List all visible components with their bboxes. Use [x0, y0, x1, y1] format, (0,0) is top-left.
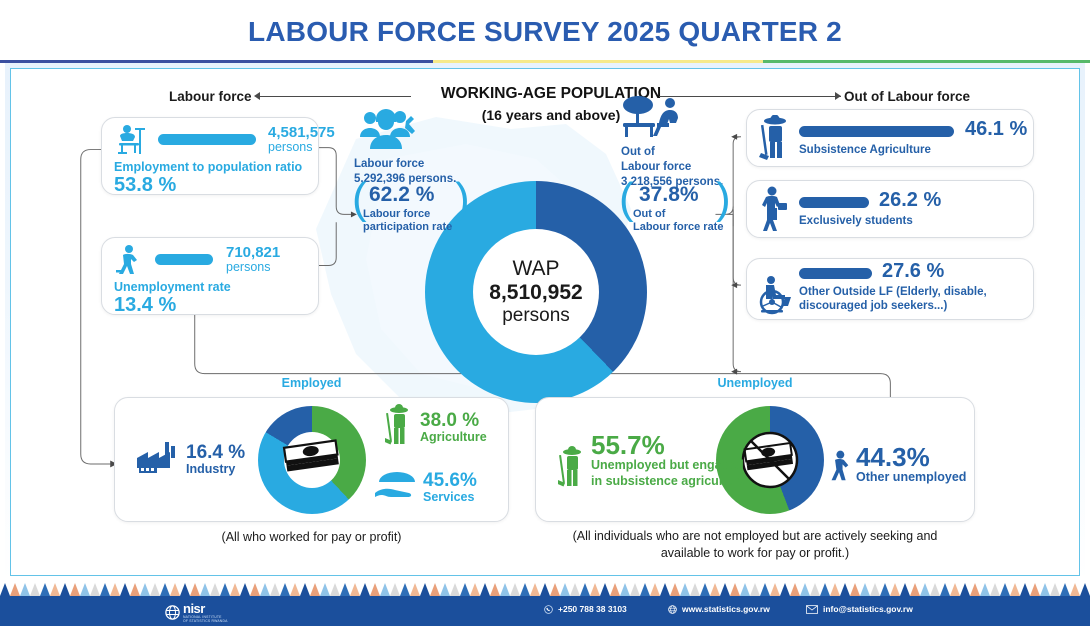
flow-label-labour-force: Labour force: [169, 89, 252, 104]
out-lf-rate-sub-1: Out of: [633, 208, 665, 222]
unemployed-subsistence-percent: 55.7%: [591, 430, 665, 461]
services-percent: 45.6%: [423, 470, 477, 492]
farmer-green-icon: [558, 446, 588, 490]
card-other-outside-lf[interactable]: 27.6 % Other Outside LF (Elderly, disabl…: [746, 258, 1034, 320]
bar-unemployment-rate: [155, 254, 213, 265]
other-outside-lf-label: Other Outside LF (Elderly, disable,: [799, 285, 987, 299]
employment-percent: 53.8 %: [114, 174, 176, 197]
bar-employment-ratio: [158, 134, 256, 145]
job-seeker-blue-icon: [828, 448, 858, 486]
factory-icon: [137, 442, 181, 476]
labour-force-title-1: Labour force: [354, 157, 472, 172]
footer-phone[interactable]: +250 788 38 3103: [544, 604, 627, 614]
desk-worker-icon: [114, 124, 152, 158]
bar-exclusively-students: [799, 197, 869, 208]
card-exclusively-students[interactable]: 26.2 % Exclusively students: [746, 180, 1034, 238]
wap-number: 8,510,952: [489, 281, 582, 305]
other-outside-lf-percent: 27.6 %: [882, 260, 944, 283]
employed-caption: (All who worked for pay or profit): [114, 529, 509, 546]
unemployment-value: 710,821: [226, 244, 280, 261]
out-lf-rate-percent: 37.8%: [639, 183, 699, 207]
services-label: Services: [423, 490, 474, 504]
card-employed[interactable]: 16.4 % Industry 38.0 % Agriculture: [114, 397, 509, 522]
agriculture-label: Agriculture: [420, 430, 487, 444]
other-unemployed-label: Other unemployed: [856, 470, 966, 484]
card-unemployed[interactable]: 55.7% Unemployed but engaged in subsiste…: [535, 397, 975, 522]
wheelchair-icon: [755, 275, 799, 315]
left-paren-close-icon: ): [455, 177, 470, 221]
unemployment-unit: persons: [226, 260, 270, 274]
subsistence-agriculture-percent: 46.1 %: [965, 118, 1027, 141]
services-hand-icon: [373, 466, 421, 504]
industry-label: Industry: [186, 462, 235, 476]
footer-email[interactable]: info@statistics.gov.rw: [806, 604, 913, 614]
person-on-bench-icon: [621, 95, 683, 141]
agriculture-percent: 38.0 %: [420, 410, 479, 432]
out-of-labour-force-stat: Out of Labour force 3,218,556 persons.: [621, 95, 751, 190]
flow-line-left: [259, 96, 411, 97]
unemployed-caption-line-1: (All individuals who are not employed bu…: [535, 528, 975, 545]
out-lf-rate-sub-2: Labour force rate: [633, 221, 723, 235]
unemployment-label: Unemployment rate: [114, 280, 231, 294]
footer-website-text: www.statistics.gov.rw: [682, 604, 770, 614]
student-icon: [759, 186, 791, 232]
unemployed-caption: (All individuals who are not employed bu…: [535, 528, 975, 562]
farmer-green-icon: [385, 404, 415, 448]
job-seeker-icon: [116, 244, 150, 278]
exclusively-students-percent: 26.2 %: [879, 189, 941, 212]
flow-label-out-labour-force: Out of Labour force: [844, 89, 970, 104]
zigzag-border-decoration: [0, 583, 1090, 596]
bar-subsistence-agriculture: [799, 126, 954, 137]
workers-group-icon: [358, 107, 420, 151]
card-subsistence-agriculture[interactable]: 46.1 % Subsistence Agriculture: [746, 109, 1034, 167]
unemployed-section-header: Unemployed: [535, 376, 975, 390]
envelope-icon: [806, 605, 818, 614]
footer-phone-text: +250 788 38 3103: [558, 604, 627, 614]
infographic-root: LABOUR FORCE SURVEY 2025 QUARTER 2 Labou…: [0, 0, 1090, 626]
out-lf-title-1: Out of: [621, 145, 751, 160]
footer-email-text: info@statistics.gov.rw: [823, 604, 913, 614]
industry-percent: 16.4 %: [186, 442, 245, 464]
unemployed-caption-line-2: available to work for pay or profit.): [535, 545, 975, 562]
money-stack-icon: [280, 436, 344, 484]
subsistence-agriculture-label: Subsistence Agriculture: [799, 143, 931, 157]
exclusively-students-label: Exclusively students: [799, 214, 913, 228]
flow-arrow-right-icon: [835, 92, 841, 100]
nisr-globe-icon: [165, 605, 180, 620]
globe-icon: [668, 605, 677, 614]
footer-website[interactable]: www.statistics.gov.rw: [668, 604, 770, 614]
page-title: LABOUR FORCE SURVEY 2025 QUARTER 2: [0, 16, 1090, 48]
bar-other-outside-lf: [799, 268, 872, 279]
farmer-hoe-icon: [759, 115, 793, 161]
nisr-logo-text: nisr: [183, 602, 228, 615]
content-frame-outer: Labour force Out of Labour force WORKING…: [5, 63, 1085, 581]
card-unemployment-rate[interactable]: 710,821 persons Unemployment rate 13.4 %: [101, 237, 319, 315]
unemployed-subsistence-label-2: in subsistence agriculture.: [591, 474, 749, 488]
wap-center-label: WAP 8,510,952 persons: [473, 229, 599, 355]
right-paren-close-icon: ): [716, 177, 731, 221]
wap-word: WAP: [512, 257, 559, 281]
flow-arrow-left-icon: [254, 92, 260, 100]
unemployment-percent: 13.4 %: [114, 294, 176, 317]
labour-force-participation-percent: 62.2 %: [369, 183, 434, 207]
labour-force-participation-sub-1: Labour force: [363, 208, 430, 222]
nisr-logo[interactable]: nisr NATIONAL INSTITUTE OF STATISTICS RW…: [165, 602, 228, 624]
employment-value: 4,581,575: [268, 124, 335, 141]
labour-force-participation-sub-2: participation rate: [363, 221, 452, 235]
wap-unit: persons: [502, 305, 570, 327]
nisr-logo-sub-2: OF STATISTICS RWANDA: [183, 619, 228, 623]
phone-icon: [544, 605, 553, 614]
employed-section-header: Employed: [114, 376, 509, 390]
employment-label: Employment to population ratio: [114, 160, 302, 174]
other-unemployed-percent: 44.3%: [856, 442, 930, 473]
other-outside-lf-label-2: discouraged job seekers...): [799, 299, 947, 313]
content-frame-inner: Labour force Out of Labour force WORKING…: [10, 68, 1080, 576]
employment-unit: persons: [268, 140, 312, 154]
right-paren-open-icon: (: [619, 177, 634, 221]
out-lf-title-2: Labour force: [621, 160, 751, 175]
card-employment-ratio[interactable]: 4,581,575 persons Employment to populati…: [101, 117, 319, 195]
unemployed-subsistence-label-1: Unemployed but engaged: [591, 458, 744, 472]
